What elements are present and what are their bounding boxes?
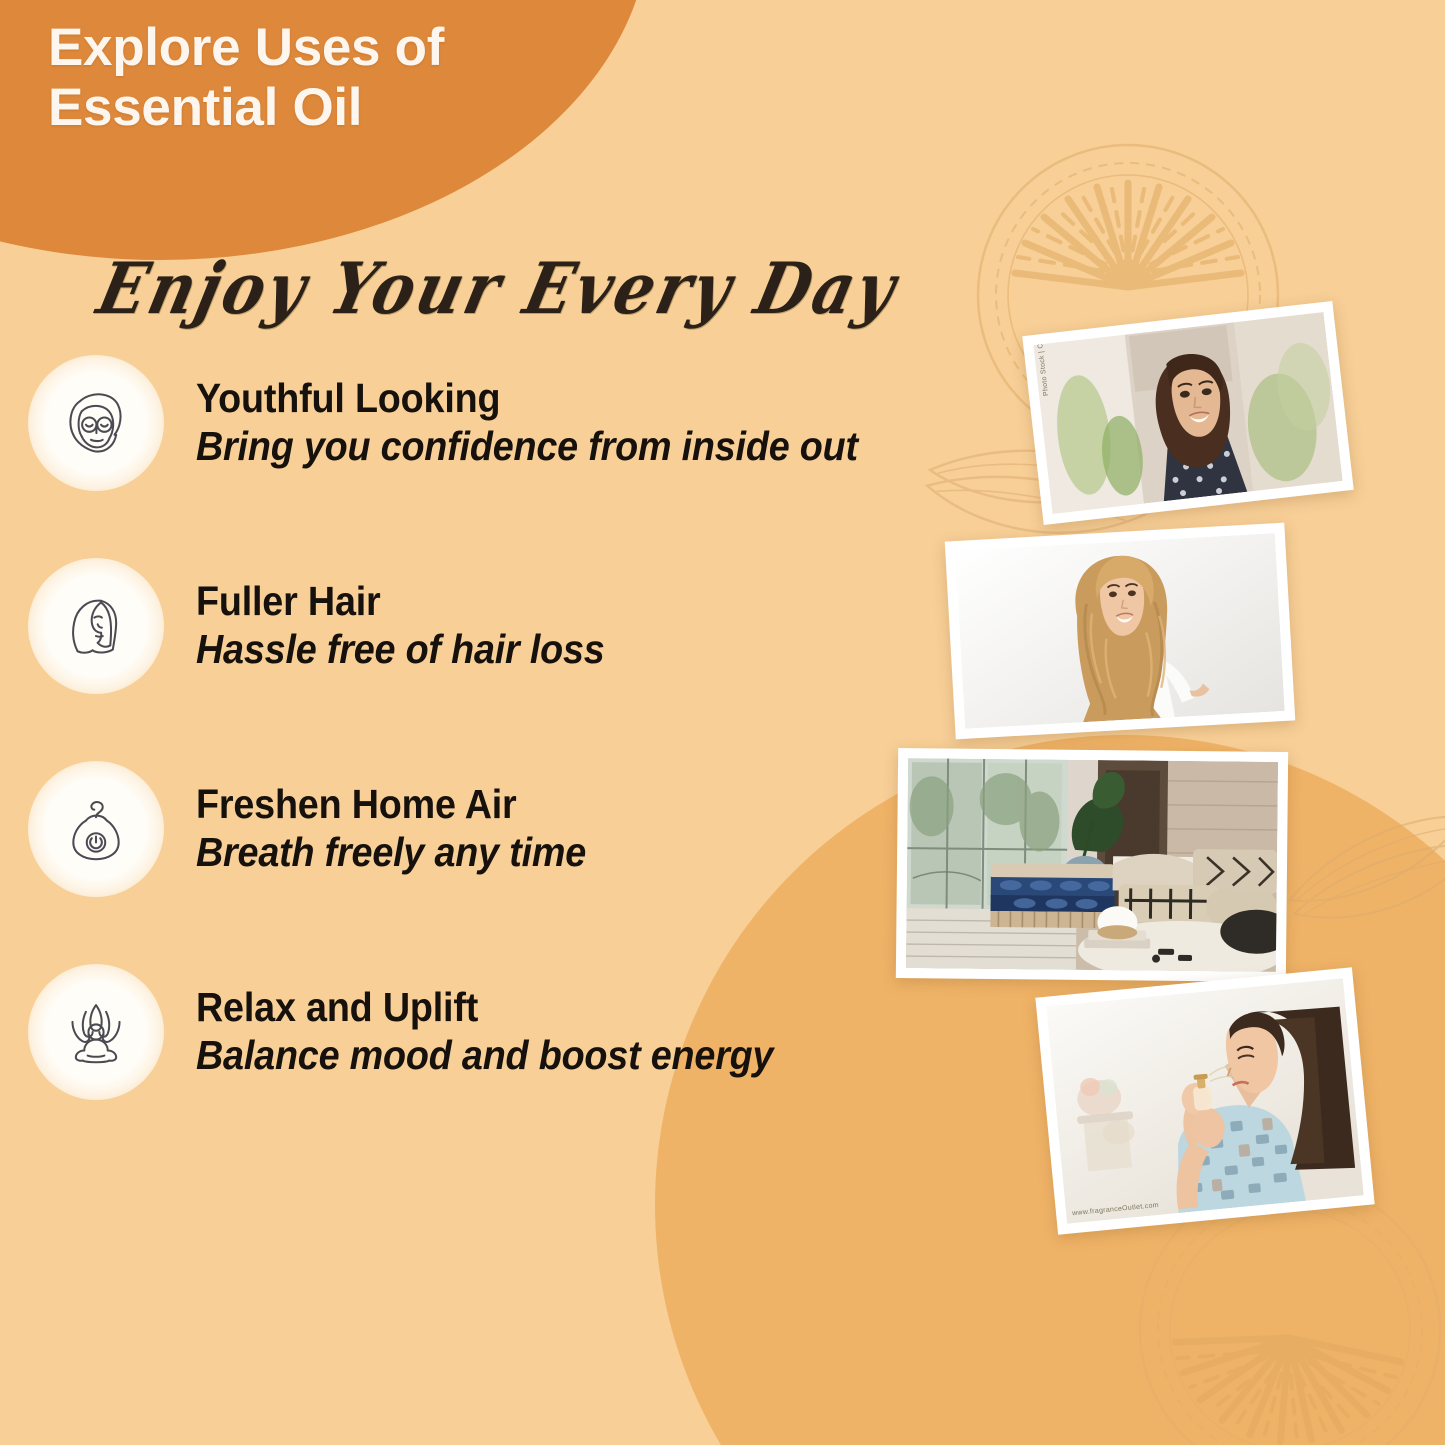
lotus-meditation-icon [54,990,138,1074]
feature-list: Youthful Looking Bring you confidence fr… [28,355,1048,1100]
feature-text-block: Freshen Home Air Breath freely any time [196,782,620,876]
feature-title: Freshen Home Air [196,782,586,826]
photo-cozy-living-room-art [906,758,1278,972]
face-mask-spa-icon [54,381,138,465]
page-title-line-2: Essential Oil [48,78,608,138]
photo-smiling-woman: Photo Stock | Commercial [1022,301,1354,525]
feature-title: Youthful Looking [196,376,858,420]
photo-smiling-woman-art [1033,312,1342,514]
photo-image [955,533,1284,729]
photo-woman-spraying-perfume: www.fragranceOutlet.com [1035,967,1374,1234]
feature-item-relax-and-uplift: Relax and Uplift Balance mood and boost … [28,964,1048,1100]
feature-text-block: Relax and Uplift Balance mood and boost … [196,985,824,1079]
feature-subtitle: Hassle free of hair loss [196,627,605,673]
photo-wavy-hair-woman-art [955,533,1284,729]
photo-image [906,758,1278,972]
feature-title: Fuller Hair [196,579,605,623]
feature-subtitle: Breath freely any time [196,830,586,876]
photo-cozy-living-room [896,748,1288,982]
aroma-diffuser-icon [54,787,138,871]
feature-icon-container [28,558,164,694]
page-title-line-1: Explore Uses of [48,18,608,78]
feature-item-youthful-looking: Youthful Looking Bring you confidence fr… [28,355,1048,491]
page-title: Explore Uses of Essential Oil [48,18,608,139]
feature-icon-container [28,964,164,1100]
long-hair-profile-icon [54,584,138,668]
feature-item-fuller-hair: Fuller Hair Hassle free of hair loss [28,558,1048,694]
infographic-canvas: Explore Uses of Essential Oil Enjoy Your… [0,0,1445,1445]
feature-icon-container [28,355,164,491]
feature-title: Relax and Uplift [196,985,773,1029]
photo-woman-spraying-perfume-art [1046,978,1364,1224]
feature-item-freshen-home-air: Freshen Home Air Breath freely any time [28,761,1048,897]
tagline: Enjoy Your Every Day [90,247,905,330]
feature-subtitle: Bring you confidence from inside out [196,424,858,470]
photo-wavy-hair-woman [945,523,1296,740]
feature-text-block: Youthful Looking Bring you confidence fr… [196,376,915,470]
feature-text-block: Fuller Hair Hassle free of hair loss [196,579,640,673]
photo-image: Photo Stock | Commercial [1033,312,1342,514]
feature-icon-container [28,761,164,897]
feature-subtitle: Balance mood and boost energy [196,1033,773,1079]
photo-image: www.fragranceOutlet.com [1046,978,1364,1224]
